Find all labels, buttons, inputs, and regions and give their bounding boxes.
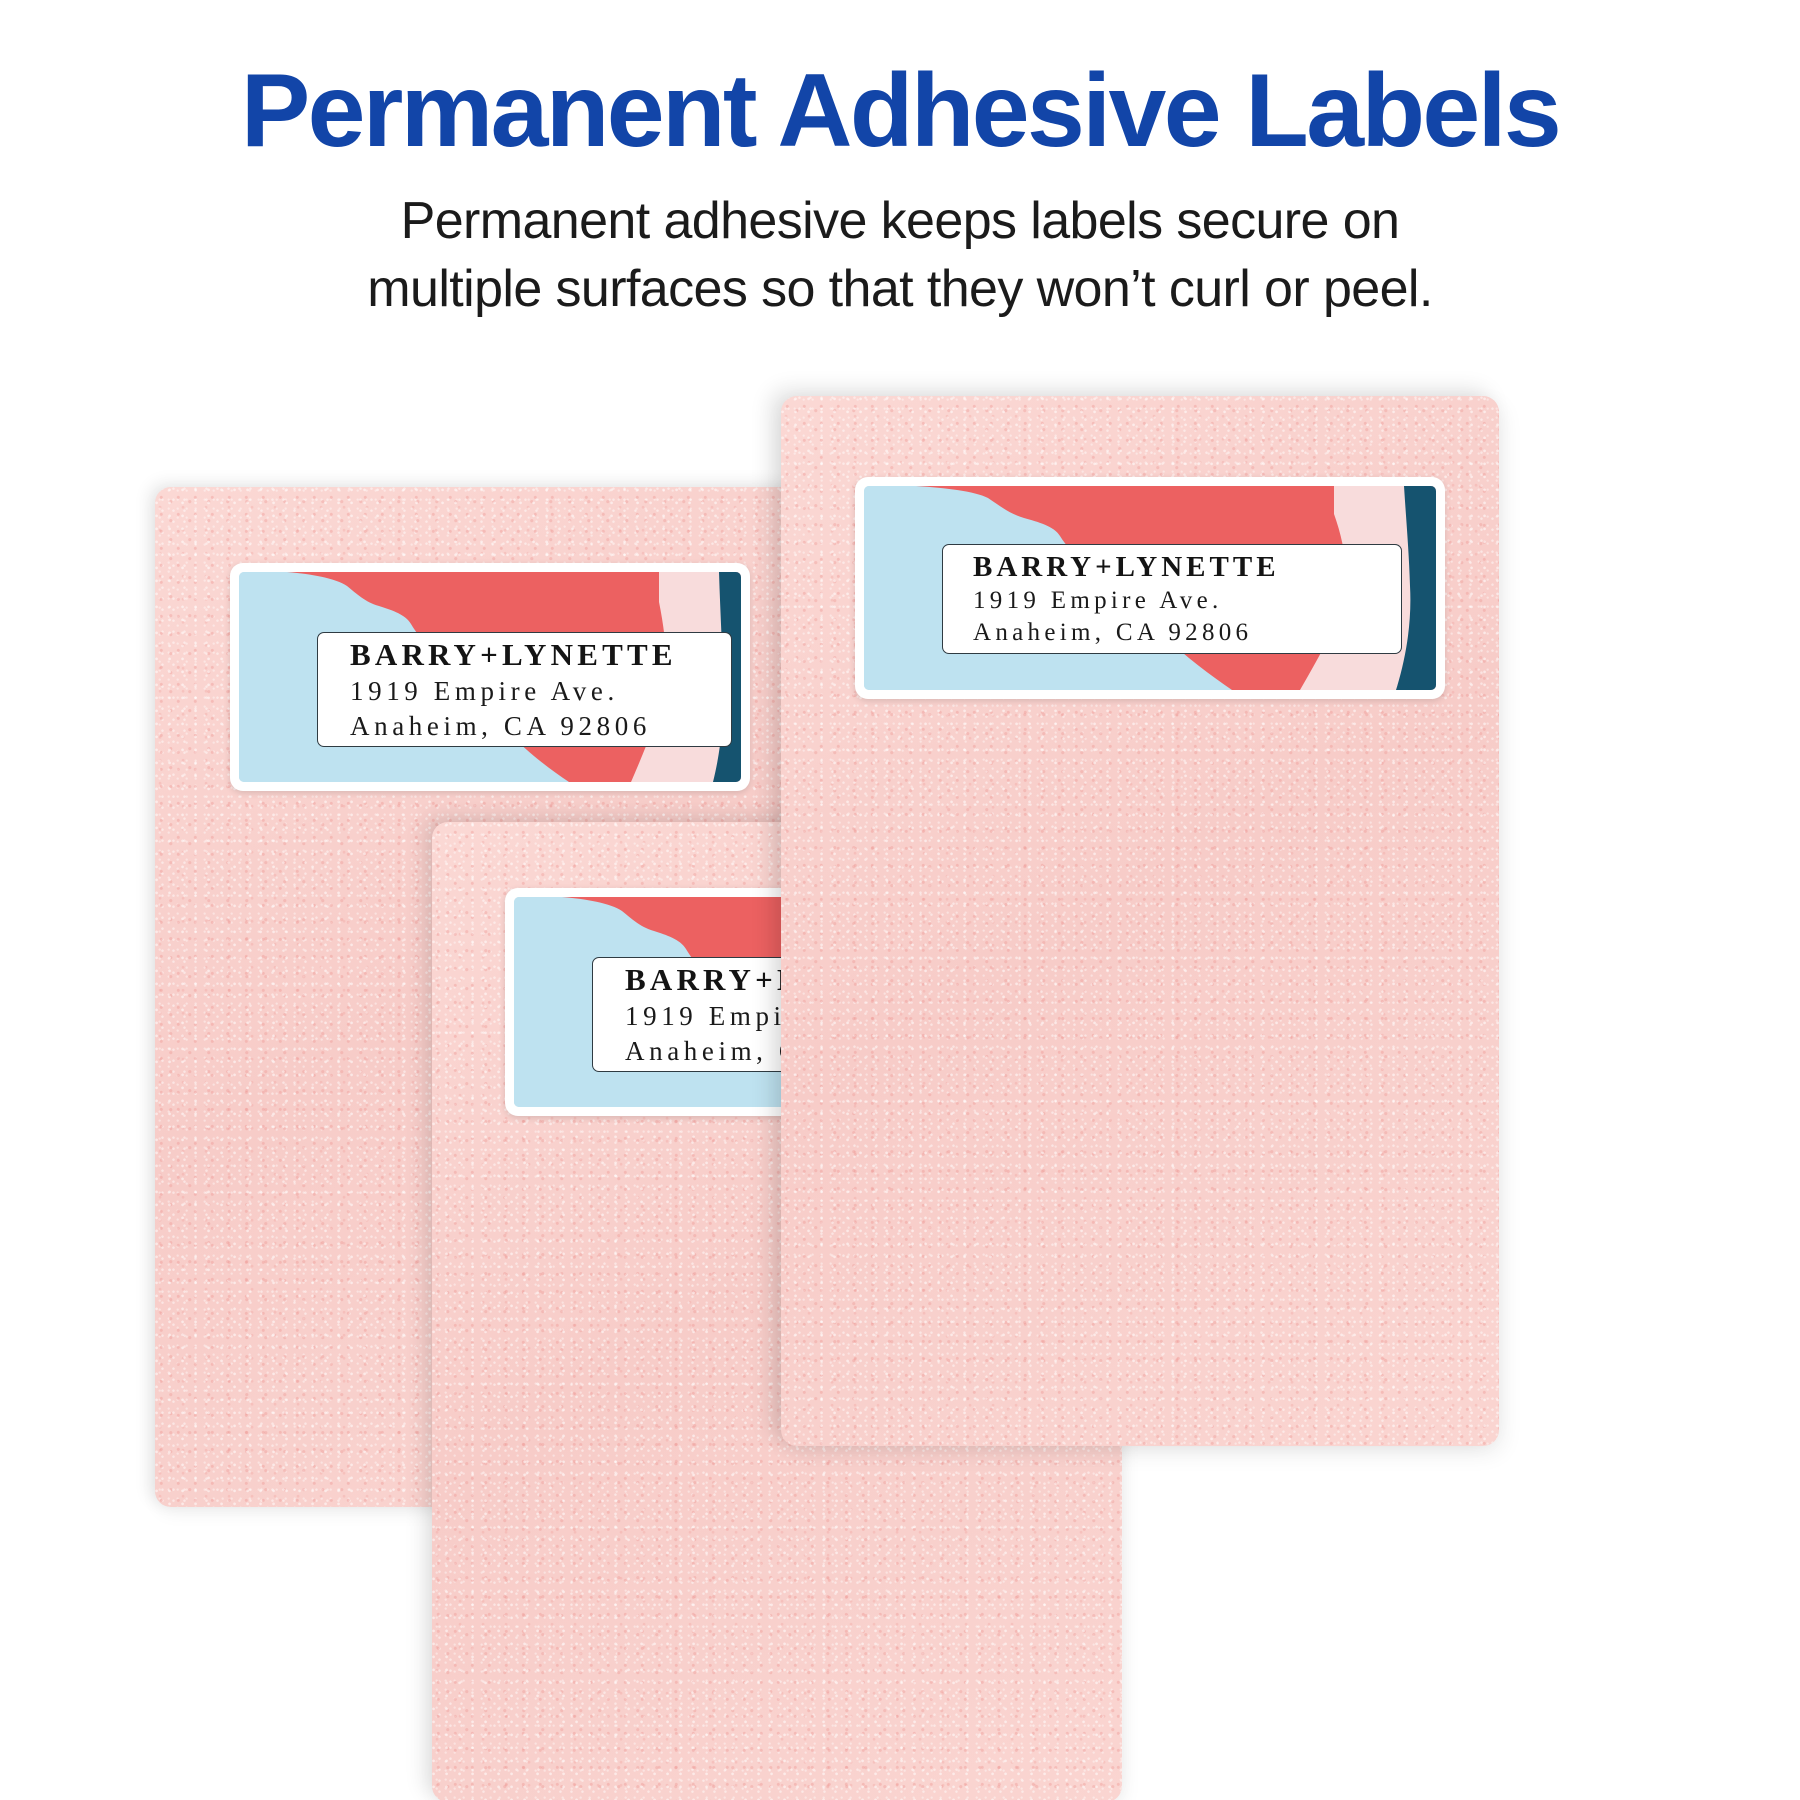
address-text-box: BARRY+LYNETTE 1919 Empire Ave. Anaheim, … — [317, 632, 732, 747]
label-street-line: 1919 Empire Ave. — [350, 674, 731, 709]
label-name-line: BARRY+LYNETTE — [973, 549, 1401, 586]
page-subtitle: Permanent adhesive keeps labels secure o… — [0, 188, 1800, 323]
label-city-line: Anaheim, CA 92806 — [973, 617, 1401, 649]
subtitle-line-1: Permanent adhesive keeps labels secure o… — [0, 188, 1800, 256]
label-artwork: BARRY+LYNETTE 1919 Empire Ave. Anaheim, … — [864, 486, 1436, 690]
address-label-left: BARRY+LYNETTE 1919 Empire Ave. Anaheim, … — [230, 563, 750, 791]
page-title: Permanent Adhesive Labels — [0, 56, 1800, 166]
label-name-line: BARRY+LYNETTE — [350, 635, 731, 675]
subtitle-line-2: multiple surfaces so that they won’t cur… — [0, 256, 1800, 324]
label-artwork: BARRY+LYNETTE 1919 Empire Ave. Anaheim, … — [239, 572, 741, 782]
product-marketing-image: Permanent Adhesive Labels Permanent adhe… — [0, 0, 1800, 1800]
header-block: Permanent Adhesive Labels Permanent adhe… — [0, 0, 1800, 323]
address-label-right: BARRY+LYNETTE 1919 Empire Ave. Anaheim, … — [855, 477, 1445, 699]
label-street-line: 1919 Empire Ave. — [973, 585, 1401, 617]
label-city-line: Anaheim, CA 92806 — [350, 709, 731, 744]
address-text-box: BARRY+LYNETTE 1919 Empire Ave. Anaheim, … — [942, 544, 1402, 654]
